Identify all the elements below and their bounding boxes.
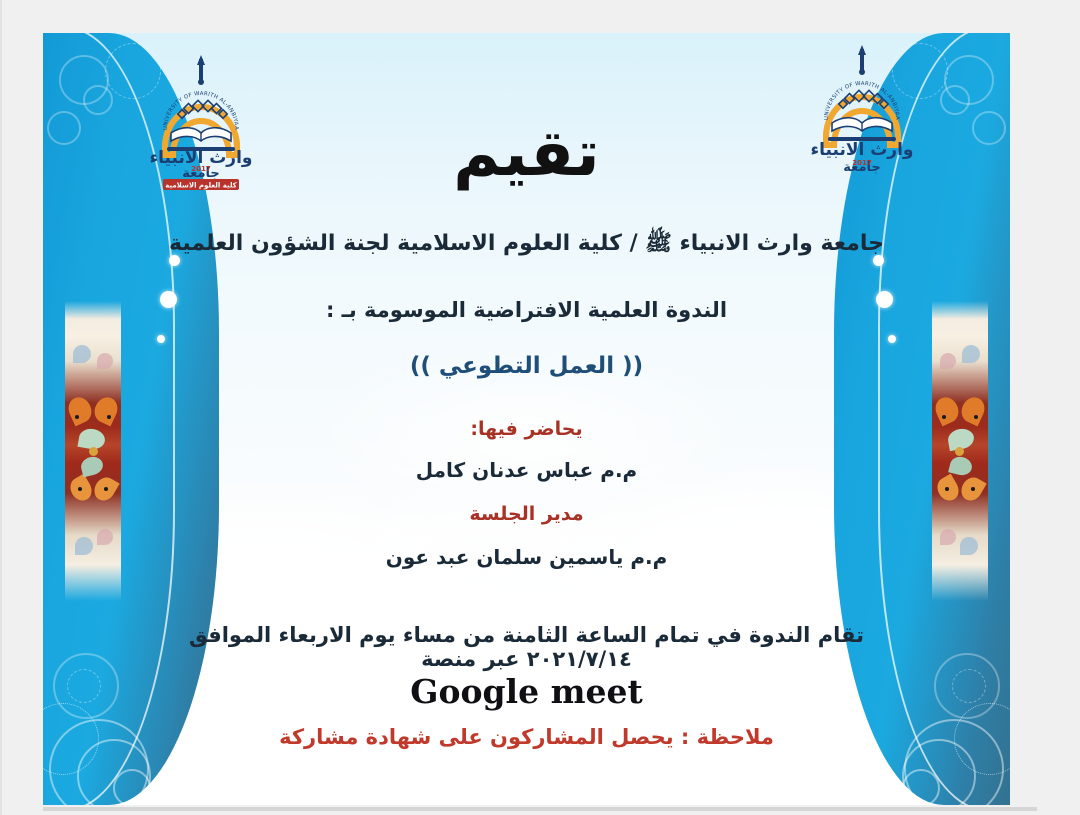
page-title: تقيم bbox=[219, 117, 834, 191]
corner-flourish-icon bbox=[113, 769, 151, 805]
ornament-dot bbox=[107, 415, 111, 419]
organization-line: جامعة وارث الانبياء ﷺ / كلية العلوم الاس… bbox=[159, 229, 894, 261]
ornament-floral bbox=[97, 353, 113, 369]
ornament-dot bbox=[104, 487, 108, 491]
ornament-dot bbox=[78, 487, 82, 491]
moderator-name: م.م ياسمين سلمان عبد عون bbox=[159, 545, 894, 569]
corner-flourish-icon bbox=[902, 769, 940, 805]
ornament-floral bbox=[962, 345, 980, 363]
speaker-name: م.م عباس عدنان كامل bbox=[159, 458, 894, 482]
ornament-dot bbox=[971, 487, 975, 491]
speaker-heading: يحاضر فيها: bbox=[159, 418, 894, 440]
ornament-panel-left bbox=[65, 301, 121, 601]
logo-year: 2017 bbox=[852, 159, 872, 167]
ornament-dot bbox=[945, 487, 949, 491]
moderator-heading: مدير الجلسة bbox=[159, 503, 894, 525]
ornament-floral bbox=[960, 537, 978, 555]
platform-name: Google meet bbox=[159, 672, 894, 711]
participation-note: ملاحظة : يحصل المشاركون على شهادة مشاركة bbox=[159, 725, 894, 749]
ornament-dot bbox=[974, 415, 978, 419]
ornament-panel-right bbox=[932, 301, 988, 601]
certificate-content: تقيم جامعة وارث الانبياء ﷺ / كلية العلوم… bbox=[219, 33, 834, 805]
event-topic: (( العمل التطوعي )) bbox=[159, 353, 894, 379]
logo-year: 2017 bbox=[191, 165, 211, 173]
ornament-dot bbox=[942, 415, 946, 419]
swirl-decoration-icon bbox=[83, 85, 113, 115]
ornament-dot bbox=[89, 447, 98, 456]
ornament-dot bbox=[955, 447, 964, 456]
event-subtitle: الندوة العلمية الافتراضية الموسومة بـ : bbox=[159, 298, 894, 322]
swirl-decoration-icon bbox=[940, 85, 970, 115]
frame-dot bbox=[157, 335, 165, 343]
ornament-floral bbox=[97, 529, 113, 545]
page-bottom-rule bbox=[43, 807, 1037, 811]
swirl-decoration-icon bbox=[67, 669, 101, 703]
ornament-floral bbox=[75, 537, 93, 555]
swirl-decoration-icon bbox=[952, 669, 986, 703]
swirl-decoration-icon bbox=[47, 111, 81, 145]
swirl-decoration-icon bbox=[972, 111, 1006, 145]
page-left-rule bbox=[0, 0, 2, 815]
ornament-floral bbox=[940, 529, 956, 545]
certificate-card: UNIVERSITY OF WARITH AL-ANBIYAA وارث الا… bbox=[43, 33, 1010, 805]
ornament-floral bbox=[73, 345, 91, 363]
frame-dot bbox=[888, 335, 896, 343]
ornament-floral bbox=[940, 353, 956, 369]
schedule-line: تقام الندوة في تمام الساعة الثامنة من مس… bbox=[159, 623, 894, 671]
ornament-dot bbox=[75, 415, 79, 419]
